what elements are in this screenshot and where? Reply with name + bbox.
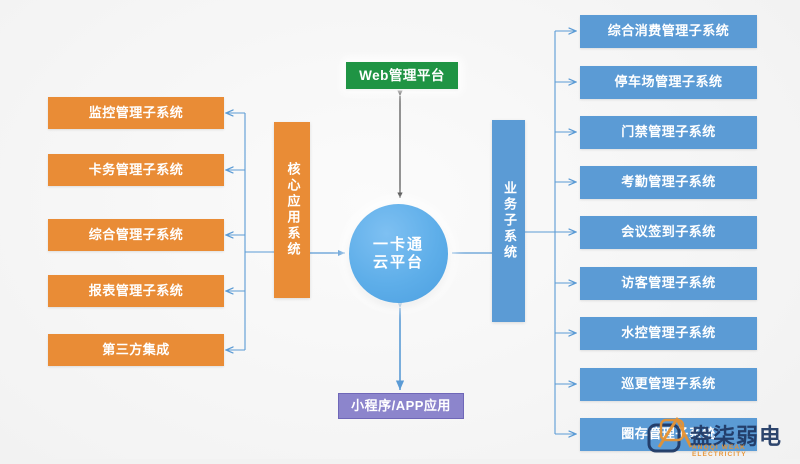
left-pillar-core-application[interactable]: 核心应用系统	[274, 122, 310, 298]
right-module-label-9: 圈存管理子系统	[621, 427, 716, 442]
left-module-box-1[interactable]: 监控管理子系统	[48, 97, 224, 129]
right-module-label-8: 巡更管理子系统	[621, 377, 716, 392]
left-module-label-4: 报表管理子系统	[89, 284, 184, 299]
right-module-box-3[interactable]: 门禁管理子系统	[580, 116, 757, 149]
right-pillar-label: 业务子系统	[501, 181, 516, 261]
right-module-label-2: 停车场管理子系统	[614, 75, 722, 90]
right-pillar-business-subsystems[interactable]: 业务子系统	[492, 120, 525, 322]
web-management-platform-label: Web管理平台	[359, 68, 445, 84]
left-connectors	[226, 113, 274, 350]
mini-program-app-box[interactable]: 小程序/APP应用	[338, 393, 464, 419]
right-module-box-2[interactable]: 停车场管理子系统	[580, 66, 757, 99]
left-module-label-2: 卡务管理子系统	[89, 163, 184, 178]
core-platform-circle[interactable]: 一卡通 云平台	[349, 204, 448, 303]
right-module-label-3: 门禁管理子系统	[621, 125, 716, 140]
left-pillar-label: 核心应用系统	[285, 162, 300, 258]
right-module-label-6: 访客管理子系统	[621, 276, 716, 291]
right-module-box-5[interactable]: 会议签到子系统	[580, 216, 757, 249]
core-platform-line2: 云平台	[373, 254, 424, 271]
right-module-label-1: 综合消费管理子系统	[608, 24, 730, 39]
left-module-label-3: 综合管理子系统	[89, 228, 184, 243]
mini-program-app-label: 小程序/APP应用	[351, 399, 451, 414]
right-module-box-9[interactable]: 圈存管理子系统	[580, 418, 757, 451]
left-module-label-5: 第三方集成	[102, 343, 170, 358]
left-module-label-1: 监控管理子系统	[89, 106, 184, 121]
left-module-box-3[interactable]: 综合管理子系统	[48, 219, 224, 251]
left-module-box-2[interactable]: 卡务管理子系统	[48, 154, 224, 186]
right-module-box-4[interactable]: 考勤管理子系统	[580, 166, 757, 199]
right-module-box-7[interactable]: 水控管理子系统	[580, 317, 757, 350]
web-management-platform-box[interactable]: Web管理平台	[346, 62, 458, 89]
right-module-box-6[interactable]: 访客管理子系统	[580, 267, 757, 300]
core-platform-line1: 一卡通	[373, 236, 424, 253]
right-module-box-8[interactable]: 巡更管理子系统	[580, 368, 757, 401]
right-connectors	[525, 31, 576, 434]
left-module-box-4[interactable]: 报表管理子系统	[48, 275, 224, 307]
right-module-label-5: 会议签到子系统	[621, 225, 716, 240]
right-module-label-4: 考勤管理子系统	[621, 175, 716, 190]
right-module-label-7: 水控管理子系统	[621, 326, 716, 341]
right-module-box-1[interactable]: 综合消费管理子系统	[580, 15, 757, 48]
left-module-box-5[interactable]: 第三方集成	[48, 334, 224, 366]
